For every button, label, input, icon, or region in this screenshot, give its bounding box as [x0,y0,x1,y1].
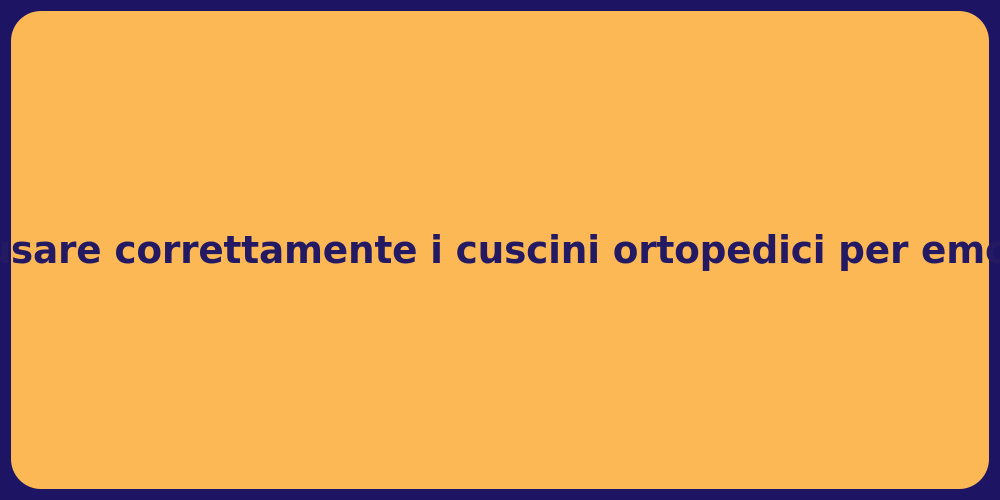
page-title: Come usare correttamente i cuscini ortop… [0,227,1000,273]
card-panel: Come usare correttamente i cuscini ortop… [11,11,989,489]
card-frame: Come usare correttamente i cuscini ortop… [0,0,1000,500]
